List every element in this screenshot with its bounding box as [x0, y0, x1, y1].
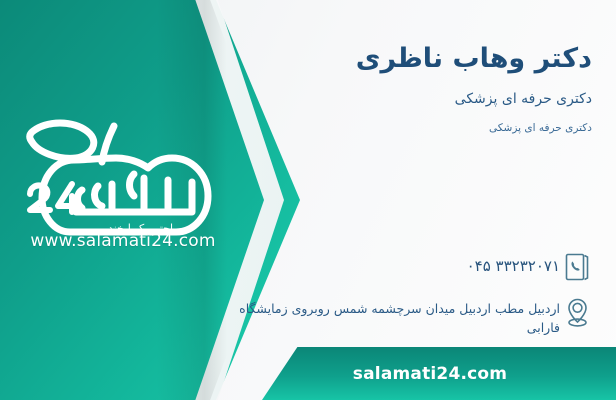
contact-block: ۳۳۲۳۲۰۷۱ ۰۴۵ اردبیل مطب اردبیل میدان سرچ… — [222, 248, 594, 346]
map-pin-icon — [560, 294, 594, 332]
brand-logo: www.salamati24.com — [16, 112, 230, 262]
contact-row-phone[interactable]: ۳۳۲۳۲۰۷۱ ۰۴۵ — [222, 248, 594, 286]
contact-row-address[interactable]: اردبیل مطب اردبیل میدان سرچشمه شمس روبرو… — [222, 294, 594, 338]
doctor-info: دکتر وهاب ناظری دکتری حرفه ای پزشکی دکتر… — [232, 0, 592, 136]
logo-tagline: براحتی یک لبخند — [108, 222, 232, 235]
footer-banner: salamati24.com — [262, 347, 616, 400]
phone-book-icon — [560, 248, 594, 286]
apple-outline-logo — [16, 112, 230, 240]
phone-number[interactable]: ۳۳۲۳۲۰۷۱ ۰۴۵ — [222, 248, 560, 278]
doctor-name: دکتر وهاب ناظری — [232, 42, 592, 76]
clinic-address[interactable]: اردبیل مطب اردبیل میدان سرچشمه شمس روبرو… — [222, 294, 560, 338]
footer-website[interactable]: salamati24.com — [353, 364, 525, 384]
business-card: www.salamati24.com براحتی یک لبخند دکتر … — [0, 0, 616, 400]
doctor-specialty: دکتری حرفه ای پزشکی — [232, 90, 592, 110]
doctor-specialty-secondary: دکتری حرفه ای پزشکی — [232, 121, 592, 136]
